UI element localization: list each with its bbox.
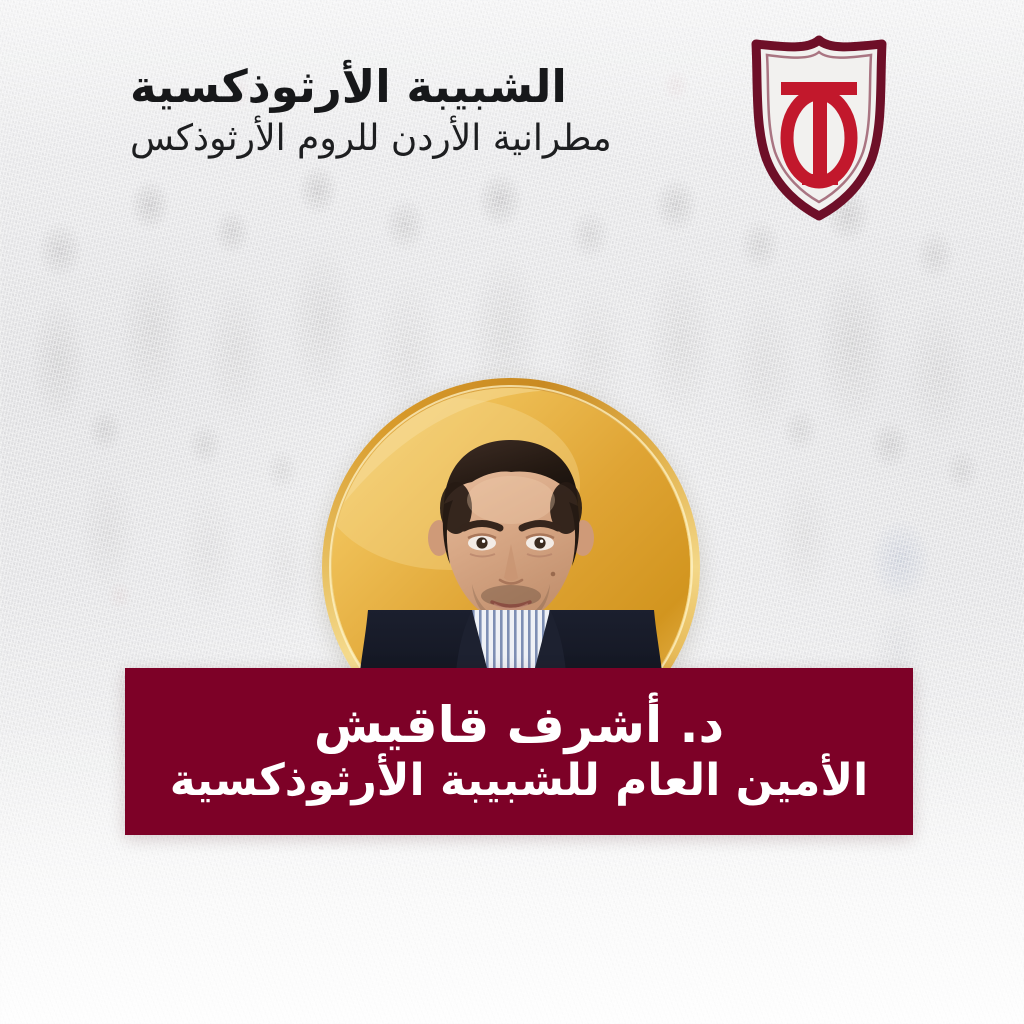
- organization-title: الشبيبة الأرثوذكسية: [130, 60, 567, 113]
- poster-canvas: الشبيبة الأرثوذكسية مطرانية الأردن للروم…: [0, 0, 1024, 1024]
- name-banner: د. أشرف قاقيش الأمين العام للشبيبة الأرث…: [125, 668, 913, 835]
- brand-wordmark: الشبيبة الأرثوذكسية مطرانية الأردن للروم…: [130, 34, 710, 160]
- orthodox-youth-shield-logo: [744, 34, 894, 222]
- person-name: د. أشرف قاقيش: [314, 697, 724, 754]
- organization-subtitle: مطرانية الأردن للروم الأرثوذكس: [130, 117, 612, 160]
- person-role: الأمين العام للشبيبة الأرثوذكسية: [170, 756, 869, 806]
- header: الشبيبة الأرثوذكسية مطرانية الأردن للروم…: [130, 34, 894, 214]
